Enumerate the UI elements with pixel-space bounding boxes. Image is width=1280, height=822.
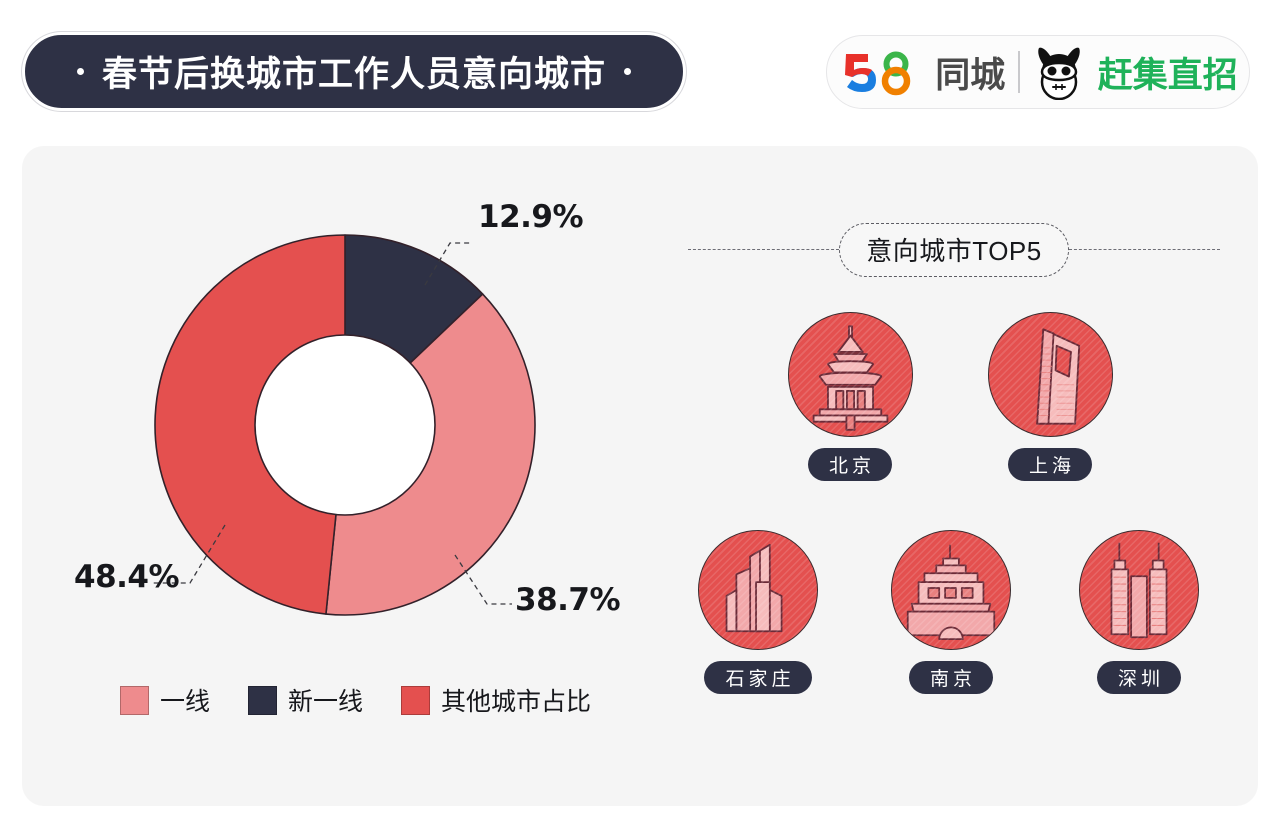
infographic-root: 春节后换城市工作人员意向城市 同城 赶集直: [0, 0, 1280, 822]
city-item-nanjing[interactable]: 南京: [871, 530, 1031, 694]
pct-label-new-tier1: 12.9%: [478, 199, 583, 235]
dashed-rule-left: [688, 249, 839, 250]
donut-chart-svg: [130, 220, 560, 630]
city-label-shanghai: 上海: [1008, 448, 1092, 481]
logo-58-text: 同城: [935, 47, 1005, 98]
dashed-rule-right: [1069, 249, 1220, 250]
top5-heading-label: 意向城市TOP5: [866, 231, 1041, 268]
city-circle-shenzhen: [1079, 530, 1199, 650]
city-label-shenzhen: 深圳: [1097, 661, 1181, 694]
city-item-shenzhen[interactable]: 深圳: [1059, 530, 1219, 694]
top5-heading-pill: 意向城市TOP5: [839, 223, 1068, 277]
legend-label-other: 其他城市占比: [441, 682, 591, 718]
city-label-nanjing: 南京: [909, 661, 993, 694]
city-circle-beijing: [788, 312, 913, 437]
city-item-beijing[interactable]: 北京: [770, 312, 930, 481]
top5-heading-row: 意向城市TOP5: [688, 222, 1220, 277]
legend-swatch-new-tier1: [248, 686, 277, 715]
top5-city-grid: 北京 上海: [688, 312, 1228, 742]
page-title-banner: 春节后换城市工作人员意向城市: [22, 32, 686, 111]
legend-item-other: 其他城市占比: [401, 682, 591, 718]
city-circle-shanghai: [988, 312, 1113, 437]
page-title: 春节后换城市工作人员意向城市: [102, 46, 606, 97]
twin-towers-icon: [1080, 531, 1198, 649]
rabbit-mascot-icon: [1033, 44, 1085, 100]
skyscrapers-icon: [699, 531, 817, 649]
donut-hole: [255, 335, 435, 515]
shanghai-tower-icon: [989, 313, 1112, 436]
city-circle-nanjing: [891, 530, 1011, 650]
donut-chart: [130, 220, 560, 630]
city-label-beijing: 北京: [808, 448, 892, 481]
legend-item-tier1: 一线: [120, 682, 210, 718]
legend-label-tier1: 一线: [160, 682, 210, 718]
city-item-shanghai[interactable]: 上海: [970, 312, 1130, 481]
city-circle-shijiazhuang: [698, 530, 818, 650]
brand-logo: 同城 赶集直招: [826, 35, 1250, 109]
logo-ganji-text: 赶集直招: [1098, 47, 1238, 98]
city-gate-icon: [892, 531, 1010, 649]
logo-divider: [1018, 51, 1020, 93]
logo-58-mark: [838, 48, 918, 96]
temple-of-heaven-icon: [789, 313, 912, 436]
legend-label-new-tier1: 新一线: [288, 682, 363, 718]
bullet-dot-icon-left: [77, 68, 84, 75]
bullet-dot-icon-right: [624, 68, 631, 75]
legend-swatch-other: [401, 686, 430, 715]
legend-swatch-tier1: [120, 686, 149, 715]
pct-label-other: 48.4%: [74, 559, 179, 595]
city-label-shijiazhuang: 石家庄: [704, 661, 811, 694]
chart-legend: 一线 新一线 其他城市占比: [120, 682, 591, 718]
logo-58-icon: [838, 48, 918, 96]
city-item-shijiazhuang[interactable]: 石家庄: [678, 530, 838, 694]
pct-label-tier1: 38.7%: [515, 582, 620, 618]
legend-item-new-tier1: 新一线: [248, 682, 363, 718]
